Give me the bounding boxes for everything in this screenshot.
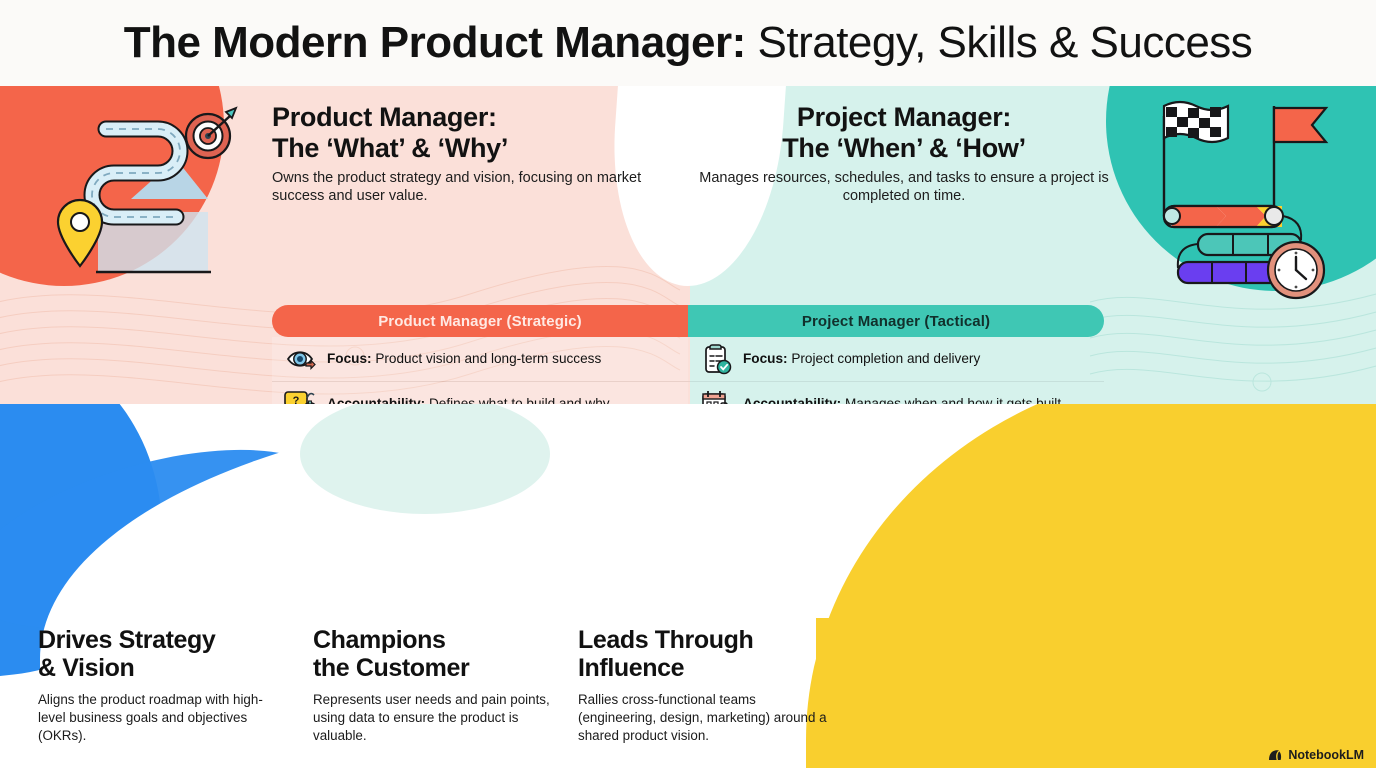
skill-leads-through-influence: Leads Through Influence Rallies cross-fu… [578, 626, 828, 745]
comparison-row: ? Accountabilit [272, 381, 1104, 404]
skill-title-line2: the Customer [313, 654, 563, 682]
comparison-section: Product Manager: The ‘What’ & ‘Why’ Owns… [0, 86, 1376, 404]
left-cell-accountability-text: Accountability: Defines what to build an… [327, 396, 610, 404]
left-subtitle: Owns the product strategy and vision, fo… [272, 169, 692, 206]
page-title-regular: Strategy, Skills & Success [746, 18, 1253, 67]
left-heading-line1: Product Manager: [272, 102, 692, 133]
right-heading-line2: The ‘When’ & ‘How’ [694, 133, 1114, 164]
left-heading-line2: The ‘What’ & ‘Why’ [272, 133, 692, 164]
left-cell-focus-text: Focus: Product vision and long-term succ… [327, 351, 601, 367]
right-subtitle: Manages resources, schedules, and tasks … [694, 169, 1114, 206]
skill-title-line1: Drives Strategy [38, 626, 288, 654]
watermark-label: NotebookLM [1288, 748, 1364, 762]
right-heading-line1: Project Manager: [694, 102, 1114, 133]
skill-drives-strategy: Drives Strategy & Vision Aligns the prod… [38, 626, 288, 745]
watermark: NotebookLM [1268, 748, 1364, 762]
skill-champions-customer: Champions the Customer Represents user n… [313, 626, 563, 745]
calendar-briefcase-icon [700, 387, 734, 404]
right-heading-block: Project Manager: The ‘When’ & ‘How’ Mana… [694, 102, 1114, 206]
skill-title-line2: Influence [578, 654, 828, 682]
skill-title-line1: Leads Through [578, 626, 828, 654]
comparison-pill-row: Product Manager (Strategic) Project Mana… [272, 305, 1104, 337]
svg-text:?: ? [293, 395, 300, 404]
skill-blocks: Drives Strategy & Vision Aligns the prod… [0, 404, 840, 768]
left-cell-focus: Focus: Product vision and long-term succ… [272, 337, 688, 381]
pill-project-manager: Project Manager (Tactical) [688, 305, 1104, 337]
right-cell-accountability: Accountability: Manages when and how it … [688, 382, 1104, 404]
right-cell-focus-text: Focus: Project completion and delivery [743, 351, 980, 367]
comparison-row: Focus: Product vision and long-term succ… [272, 337, 1104, 381]
comparison-rows: Focus: Product vision and long-term succ… [272, 337, 1104, 404]
page-title-bold: The Modern Product Manager: [124, 18, 746, 67]
infographic-page: The Modern Product Manager: Strategy, Sk… [0, 0, 1376, 768]
right-cell-focus: Focus: Project completion and delivery [688, 337, 1104, 381]
left-cell-accountability: ? Accountabilit [272, 382, 688, 404]
skill-description: Aligns the product roadmap with high-lev… [38, 691, 288, 745]
skill-title-line2: & Vision [38, 654, 288, 682]
skill-title-line1: Champions [313, 626, 563, 654]
yellow-band-decoration [816, 618, 1376, 768]
right-cell-accountability-text: Accountability: Manages when and how it … [743, 396, 1061, 404]
skill-description: Rallies cross-functional teams (engineer… [578, 691, 828, 745]
page-title: The Modern Product Manager: Strategy, Sk… [124, 21, 1253, 65]
left-heading-block: Product Manager: The ‘What’ & ‘Why’ Owns… [272, 102, 692, 206]
notebooklm-logo-icon [1268, 749, 1283, 762]
eye-icon [284, 342, 318, 376]
clipboard-check-icon [700, 342, 734, 376]
skill-description: Represents user needs and pain points, u… [313, 691, 563, 745]
title-bar: The Modern Product Manager: Strategy, Sk… [0, 0, 1376, 86]
pill-product-manager: Product Manager (Strategic) [272, 305, 688, 337]
question-gear-icon: ? [284, 387, 318, 404]
skills-section: Drives Strategy & Vision Aligns the prod… [0, 404, 1376, 768]
